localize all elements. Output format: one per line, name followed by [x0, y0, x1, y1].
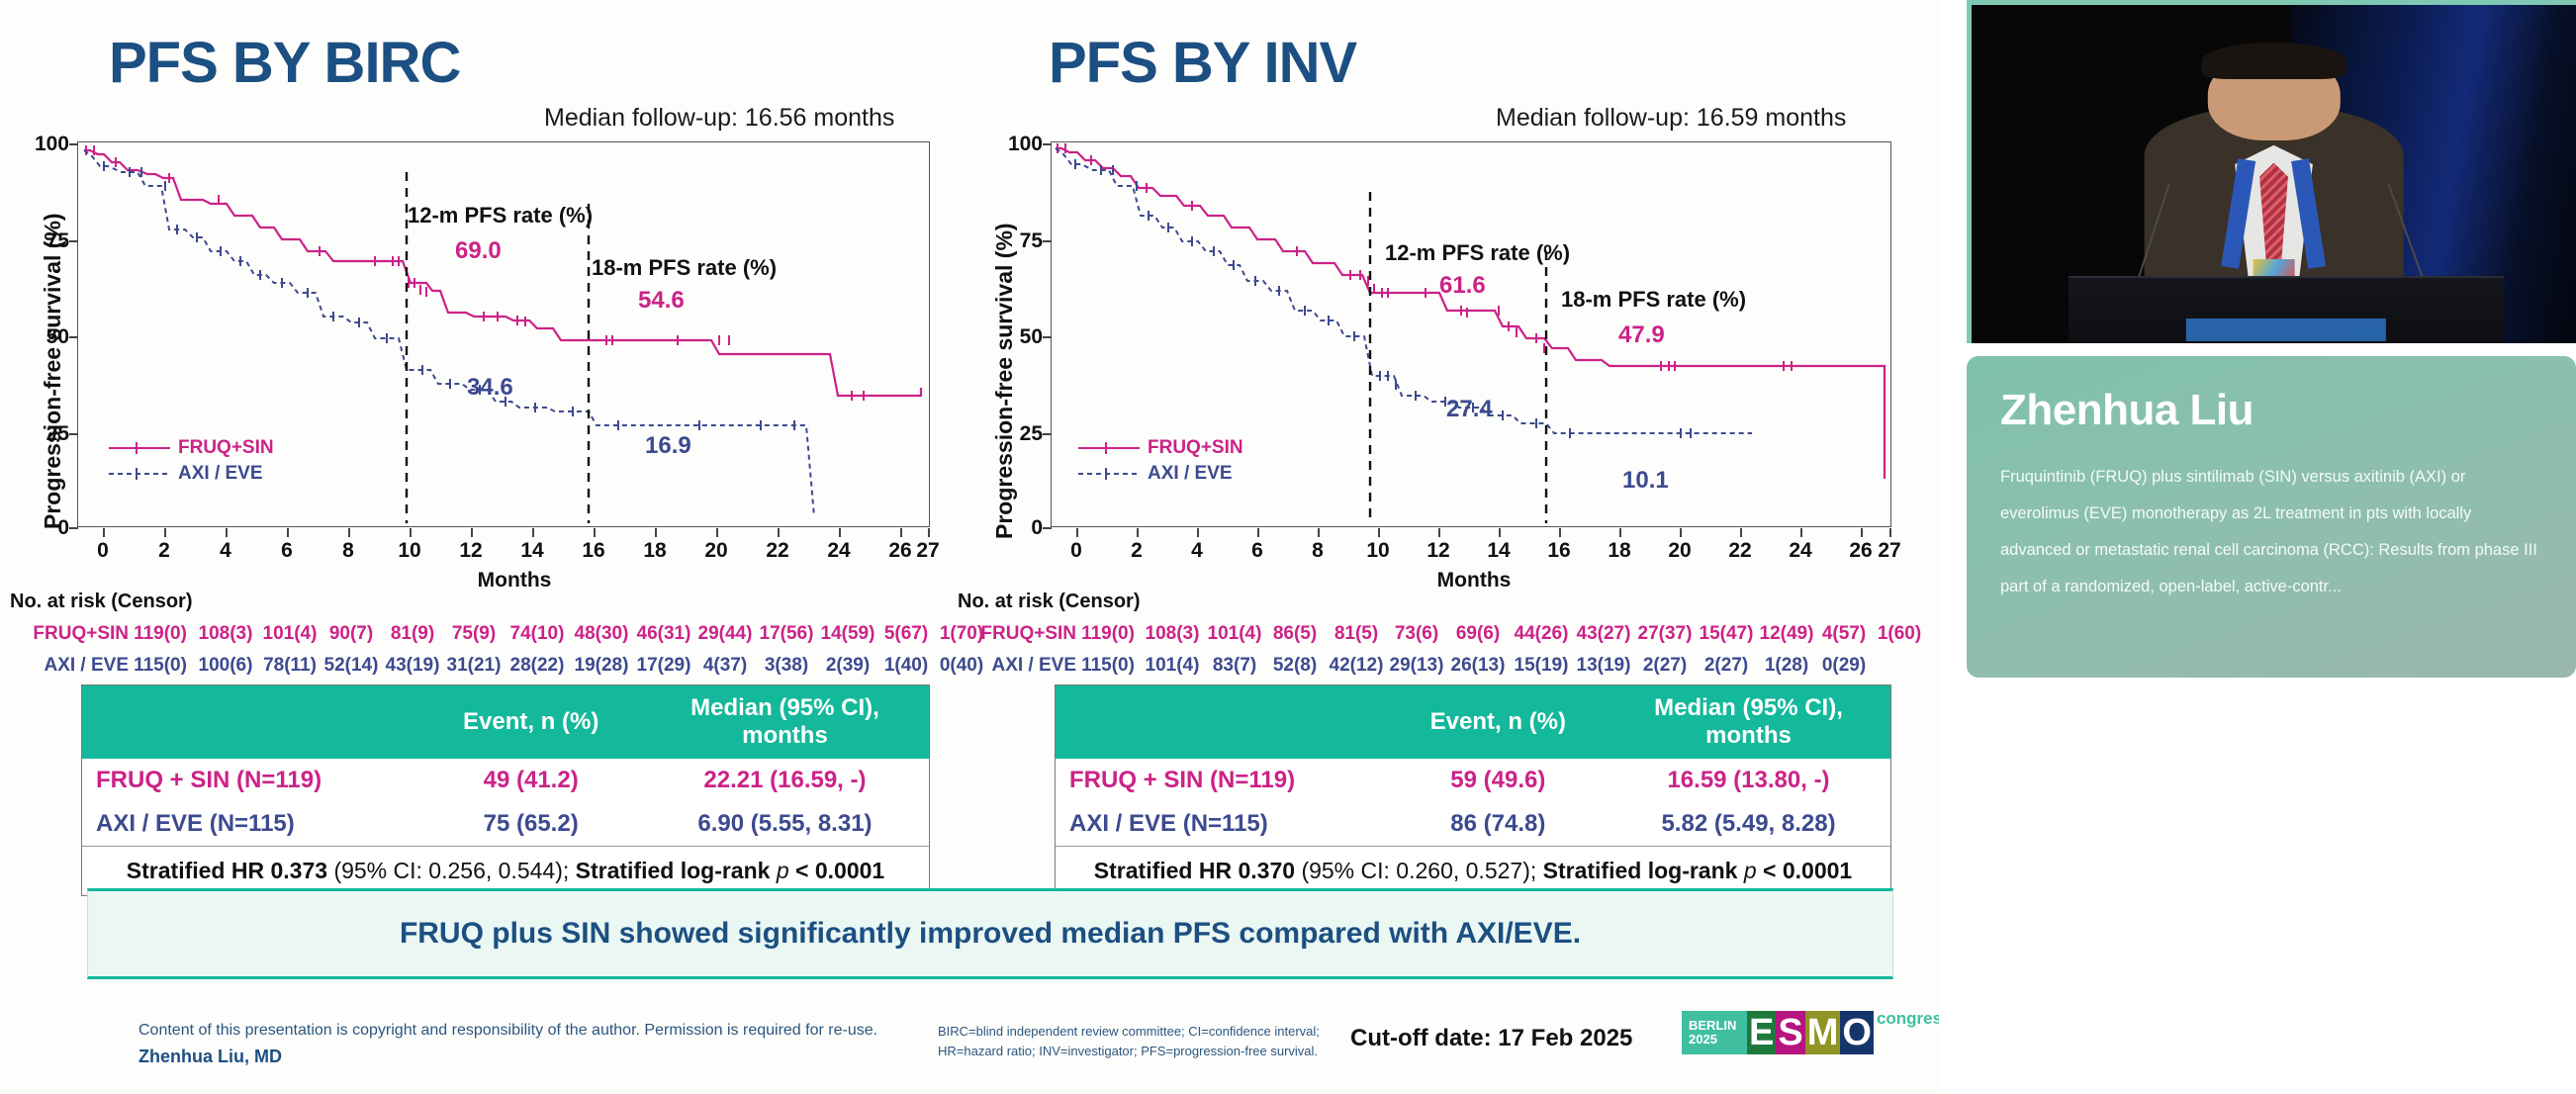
y-tick-birc-3: 25 [22, 422, 69, 446]
x-tick-inv-2: 4 [1177, 539, 1217, 563]
anno-18m-pink-inv: 47.9 [1618, 321, 1665, 349]
x-tickmark-birc-0 [103, 528, 105, 537]
x-tick-birc-10: 20 [696, 539, 736, 563]
legend-item-fruqsin-birc: FRUQ+SIN [109, 435, 274, 461]
y-tickmark-inv-3 [1043, 433, 1052, 435]
hr-part: p [777, 858, 795, 883]
anno-12m-head-inv: 12-m PFS rate (%) [1385, 240, 1570, 266]
x-tick-inv-8: 16 [1539, 539, 1579, 563]
footer-abbreviations: BIRC=blind independent review committee;… [938, 1022, 1320, 1060]
risk-cell: 12(49) [1757, 623, 1816, 645]
risk-cell: 13(19) [1573, 655, 1634, 677]
esmo-berlin-line2: 2025 [1689, 1033, 1740, 1047]
risk-cell: 83(7) [1205, 655, 1264, 677]
x-tick-birc-3: 6 [267, 539, 307, 563]
table-header-cell: Median (95% CI), months [641, 685, 929, 759]
risk-cell: 78(11) [259, 655, 321, 677]
risk-cell: 108(3) [1140, 623, 1205, 645]
x-tick-inv-1: 2 [1117, 539, 1156, 563]
table-cell: FRUQ + SIN (N=119) [1056, 759, 1390, 802]
median-followup-birc: Median follow-up: 16.56 months [544, 104, 894, 133]
hr-part: Stratified HR 0.370 [1094, 858, 1302, 883]
anno-12m-blue-inv: 27.4 [1446, 396, 1493, 423]
x-tickmark-inv-12 [1800, 528, 1802, 537]
footer-copyright-text: Content of this presentation is copyrigh… [138, 1019, 930, 1044]
table-header-cell: Event, n (%) [1390, 685, 1607, 759]
x-tick-inv-5: 10 [1358, 539, 1398, 563]
x-tickmark-birc-11 [778, 528, 780, 537]
legend-label-fruqsin-inv: FRUQ+SIN [1148, 437, 1243, 459]
x-tick-inv-6: 12 [1419, 539, 1458, 563]
x-tickmark-inv-2 [1197, 528, 1199, 537]
speaker-hair [2201, 43, 2346, 80]
hr-part: < 0.0001 [1763, 858, 1852, 883]
risk-cell: 5(67) [878, 623, 934, 645]
x-tickmark-inv-10 [1680, 528, 1682, 537]
risk-cell: 86(5) [1264, 623, 1326, 645]
lectern [2069, 276, 2504, 343]
x-tickmark-inv-4 [1318, 528, 1320, 537]
hr-part: (95% CI: 0.260, 0.527); [1301, 858, 1542, 883]
x-tick-birc-8: 16 [574, 539, 613, 563]
x-tickmark-birc-7 [532, 528, 534, 537]
y-tickmark-inv-2 [1043, 336, 1052, 338]
y-tick-inv-0: 100 [995, 133, 1043, 156]
x-tickmark-birc-3 [287, 528, 289, 537]
y-tickmark-inv-0 [1043, 143, 1052, 145]
x-tickmark-inv-3 [1257, 528, 1259, 537]
risk-cell: 73(6) [1387, 623, 1446, 645]
table-row: AXI / EVE (N=115) 75 (65.2) 6.90 (5.55, … [82, 802, 929, 847]
risk-cell: 1(40) [878, 655, 934, 677]
risk-row-fruqsin-inv: FRUQ+SIN119(0)108(3)101(4)86(5)81(5)73(6… [958, 623, 1927, 645]
y-tickmark-birc-2 [69, 336, 78, 338]
esmo-letter-o: O [1840, 1011, 1874, 1054]
x-tickmark-birc-6 [471, 528, 473, 537]
risk-cell: 52(8) [1264, 655, 1326, 677]
x-tickmark-inv-7 [1499, 528, 1501, 537]
x-tick-birc-0: 0 [83, 539, 123, 563]
esmo-berlin-badge: BERLIN 2025 [1682, 1011, 1747, 1054]
chart-title-birc: PFS BY BIRC [109, 30, 460, 96]
risk-row-name: AXI / EVE [10, 655, 129, 677]
risk-cell: 90(7) [321, 623, 382, 645]
table-cell: AXI / EVE (N=115) [1056, 802, 1390, 847]
session-description: Fruquintinib (FRUQ) plus sintilimab (SIN… [2000, 459, 2542, 606]
risk-cell: 29(13) [1387, 655, 1446, 677]
table-row: FRUQ + SIN (N=119) 49 (41.2) 22.21 (16.5… [82, 759, 929, 802]
summary-table-birc: Event, n (%) Median (95% CI), months FRU… [81, 684, 930, 896]
risk-cell: 0(29) [1816, 655, 1872, 677]
legend-item-axieve-inv: AXI / EVE [1078, 461, 1243, 487]
risk-cell: 28(22) [505, 655, 570, 677]
anno-12m-head-birc: 12-m PFS rate (%) [408, 203, 593, 228]
anno-18m-head-inv: 18-m PFS rate (%) [1561, 287, 1746, 313]
y-tick-birc-2: 50 [22, 325, 69, 349]
legend-line-blue-icon [109, 468, 170, 480]
x-tickmark-birc-4 [348, 528, 350, 537]
legend-inv: FRUQ+SIN AXI / EVE [1078, 435, 1243, 487]
risk-cell: 100(6) [192, 655, 259, 677]
anno-12m-pink-inv: 61.6 [1439, 272, 1486, 300]
y-tick-inv-4: 0 [995, 516, 1043, 540]
x-tickmark-birc-1 [164, 528, 166, 537]
y-tick-birc-0: 100 [22, 133, 69, 156]
x-tick-inv-7: 14 [1479, 539, 1518, 563]
screenshot-root: PFS BY BIRC Median follow-up: 16.56 mont… [0, 0, 2576, 1094]
x-axis-label-inv: Months [1415, 569, 1533, 593]
risk-row-name: FRUQ+SIN [958, 623, 1076, 645]
y-axis-label-birc: Progression-free survival (%) [40, 213, 66, 529]
risk-cell: 101(4) [1140, 655, 1205, 677]
risk-cell: 1(60) [1872, 623, 1927, 645]
table-cell: 6.90 (5.55, 8.31) [641, 802, 929, 847]
risk-cell: 4(57) [1816, 623, 1872, 645]
hr-part: (95% CI: 0.256, 0.544); [333, 858, 575, 883]
risk-cell: 101(4) [1205, 623, 1264, 645]
esmo-letter-e: E [1747, 1011, 1776, 1054]
anno-18m-head-birc: 18-m PFS rate (%) [592, 255, 777, 281]
risk-cell: 15(19) [1510, 655, 1573, 677]
y-tick-birc-4: 0 [22, 516, 69, 540]
risk-cell: 3(38) [756, 655, 817, 677]
esmo-letters: E S M O [1747, 1011, 1874, 1054]
risk-cell: 44(26) [1510, 623, 1573, 645]
x-tick-inv-10: 20 [1660, 539, 1700, 563]
x-tickmark-inv-1 [1137, 528, 1139, 537]
x-tick-inv-4: 8 [1298, 539, 1337, 563]
legend-item-fruqsin-inv: FRUQ+SIN [1078, 435, 1243, 461]
x-tick-birc-7: 14 [512, 539, 552, 563]
x-tickmark-birc-2 [226, 528, 228, 537]
x-tickmark-inv-9 [1619, 528, 1621, 537]
sidebar: Zhenhua Liu Fruquintinib (FRUQ) plus sin… [1939, 0, 2576, 1094]
x-tick-birc-2: 4 [206, 539, 245, 563]
session-info-card: Zhenhua Liu Fruquintinib (FRUQ) plus sin… [1967, 356, 2576, 678]
legend-label-axieve-birc: AXI / EVE [178, 463, 263, 485]
risk-row-name: AXI / EVE [958, 655, 1076, 677]
x-tick-birc-9: 18 [635, 539, 675, 563]
footer-copyright-block: Content of this presentation is copyrigh… [138, 1019, 930, 1071]
x-tickmark-birc-14 [928, 528, 930, 537]
x-tick-inv-9: 18 [1600, 539, 1639, 563]
table-row: FRUQ + SIN (N=119) 59 (49.6) 16.59 (13.8… [1056, 759, 1890, 802]
y-tickmark-birc-1 [69, 240, 78, 242]
y-tick-inv-2: 50 [995, 325, 1043, 349]
x-tick-birc-4: 8 [328, 539, 368, 563]
x-tickmark-inv-5 [1378, 528, 1380, 537]
table-row: AXI / EVE (N=115) 86 (74.8) 5.82 (5.49, … [1056, 802, 1890, 847]
table-cell: 75 (65.2) [420, 802, 641, 847]
video-stage [1972, 5, 2576, 343]
y-tickmark-inv-4 [1043, 527, 1052, 529]
risk-cell: 43(19) [382, 655, 443, 677]
risk-cell: 119(0) [129, 623, 192, 645]
table-header-cell [82, 685, 420, 759]
x-tickmark-inv-11 [1740, 528, 1742, 537]
risk-cell: 81(9) [382, 623, 443, 645]
x-tickmark-inv-14 [1889, 528, 1891, 537]
table-cell: 59 (49.6) [1390, 759, 1607, 802]
risk-cell: 19(28) [570, 655, 633, 677]
risk-cell: 15(47) [1696, 623, 1757, 645]
legend-label-axieve-inv: AXI / EVE [1148, 463, 1233, 485]
chart-title-inv: PFS BY INV [1049, 30, 1356, 96]
x-tick-inv-11: 22 [1720, 539, 1760, 563]
y-axis-label-inv: Progression-free survival (%) [991, 223, 1018, 539]
risk-cell: 74(10) [505, 623, 570, 645]
table-header-cell: Event, n (%) [420, 685, 641, 759]
risk-cell: 108(3) [192, 623, 259, 645]
x-tick-inv-12: 24 [1781, 539, 1820, 563]
table-cell: 86 (74.8) [1390, 802, 1607, 847]
y-tick-birc-1: 75 [22, 229, 69, 253]
legend-item-axieve-birc: AXI / EVE [109, 461, 274, 487]
risk-cell: 119(0) [1076, 623, 1140, 645]
legend-label-fruqsin-birc: FRUQ+SIN [178, 437, 274, 459]
speaker-video-player[interactable] [1967, 0, 2576, 343]
x-tick-birc-1: 2 [144, 539, 184, 563]
risk-table-title-inv: No. at risk (Censor) [958, 591, 1140, 613]
cutoff-date: Cut-off date: 17 Feb 2025 [1350, 1025, 1632, 1052]
risk-cell: 31(21) [443, 655, 505, 677]
table-cell: FRUQ + SIN (N=119) [82, 759, 420, 802]
x-tick-inv-14: 27 [1870, 539, 1909, 563]
table-cell: 49 (41.2) [420, 759, 641, 802]
risk-cell: 2(39) [817, 655, 878, 677]
risk-cell: 52(14) [321, 655, 382, 677]
hr-part: < 0.0001 [795, 858, 884, 883]
esmo-letter-m: M [1805, 1011, 1841, 1054]
risk-cell: 14(59) [817, 623, 878, 645]
x-tickmark-birc-13 [900, 528, 902, 537]
x-tickmark-birc-5 [410, 528, 412, 537]
risk-row-axieve-birc: AXI / EVE115(0)100(6)78(11)52(14)43(19)3… [10, 655, 989, 677]
legend-line-pink-icon [1078, 442, 1140, 454]
esmo-congress-logo: BERLIN 2025 E S M O congress [1682, 1011, 1952, 1054]
hr-part: p [1744, 858, 1763, 883]
x-tickmark-inv-6 [1438, 528, 1440, 537]
footer-author-name: Zhenhua Liu, MD [138, 1044, 930, 1071]
table-cell: 5.82 (5.49, 8.28) [1607, 802, 1890, 847]
x-tick-birc-5: 10 [390, 539, 429, 563]
x-tick-inv-3: 6 [1238, 539, 1277, 563]
y-tickmark-birc-4 [69, 527, 78, 529]
legend-birc: FRUQ+SIN AXI / EVE [109, 435, 274, 487]
table-cell: 16.59 (13.80, -) [1607, 759, 1890, 802]
risk-cell: 17(29) [633, 655, 694, 677]
risk-cell: 101(4) [259, 623, 321, 645]
x-tickmark-inv-13 [1861, 528, 1863, 537]
conclusion-banner: FRUQ plus SIN showed significantly impro… [87, 888, 1893, 979]
risk-cell: 4(37) [694, 655, 756, 677]
anno-12m-pink-birc: 69.0 [455, 237, 502, 265]
risk-cell: 43(27) [1573, 623, 1634, 645]
risk-cell: 42(12) [1326, 655, 1387, 677]
risk-row-axieve-inv: AXI / EVE115(0)101(4)83(7)52(8)42(12)29(… [958, 655, 1872, 677]
x-tickmark-birc-10 [716, 528, 718, 537]
x-tick-birc-11: 22 [758, 539, 797, 563]
anno-18m-blue-birc: 16.9 [645, 432, 691, 460]
anno-18m-pink-birc: 54.6 [638, 287, 685, 315]
risk-cell: 29(44) [694, 623, 756, 645]
legend-line-pink-icon [109, 442, 170, 454]
risk-cell: 115(0) [129, 655, 192, 677]
legend-line-blue-icon [1078, 468, 1140, 480]
hr-part: Stratified log-rank [1543, 858, 1744, 883]
y-tickmark-birc-0 [69, 143, 78, 145]
risk-table-title-birc: No. at risk (Censor) [10, 591, 192, 613]
risk-cell: 27(37) [1634, 623, 1696, 645]
y-tickmark-inv-1 [1043, 240, 1052, 242]
table-cell: AXI / EVE (N=115) [82, 802, 420, 847]
risk-cell: 26(13) [1446, 655, 1510, 677]
hr-part: Stratified log-rank [576, 858, 777, 883]
risk-row-name: FRUQ+SIN [10, 623, 129, 645]
risk-cell: 48(30) [570, 623, 633, 645]
x-tickmark-birc-12 [839, 528, 841, 537]
risk-cell: 81(5) [1326, 623, 1387, 645]
table-header-cell: Median (95% CI), months [1607, 685, 1890, 759]
x-tickmark-birc-8 [594, 528, 596, 537]
x-tickmark-birc-9 [655, 528, 657, 537]
risk-cell: 1(28) [1757, 655, 1816, 677]
x-tick-inv-0: 0 [1057, 539, 1096, 563]
risk-cell: 17(56) [756, 623, 817, 645]
table-cell: 22.21 (16.59, -) [641, 759, 929, 802]
anno-12m-blue-birc: 34.6 [467, 374, 513, 402]
anno-18m-blue-inv: 10.1 [1622, 467, 1669, 495]
x-axis-label-birc: Months [455, 569, 574, 593]
table-header-cell [1056, 685, 1390, 759]
risk-cell: 2(27) [1696, 655, 1757, 677]
x-tickmark-inv-0 [1076, 528, 1078, 537]
lectern-screen [2186, 319, 2386, 341]
abbr-line-2: HR=hazard ratio; INV=investigator; PFS=p… [938, 1042, 1320, 1061]
hr-part: Stratified HR 0.373 [127, 858, 334, 883]
x-tick-birc-14: 27 [908, 539, 948, 563]
table-header-row: Event, n (%) Median (95% CI), months [82, 685, 929, 759]
esmo-berlin-line1: BERLIN [1689, 1019, 1740, 1033]
x-tick-birc-6: 12 [451, 539, 491, 563]
y-tick-inv-1: 75 [995, 229, 1043, 253]
risk-cell: 75(9) [443, 623, 505, 645]
risk-cell: 46(31) [633, 623, 694, 645]
table-header-row: Event, n (%) Median (95% CI), months [1056, 685, 1890, 759]
abbr-line-1: BIRC=blind independent review committee;… [938, 1022, 1320, 1042]
risk-cell: 115(0) [1076, 655, 1140, 677]
risk-cell: 2(27) [1634, 655, 1696, 677]
x-tick-birc-12: 24 [819, 539, 859, 563]
summary-table-inv: Event, n (%) Median (95% CI), months FRU… [1055, 684, 1891, 896]
y-tick-inv-3: 25 [995, 422, 1043, 446]
risk-row-fruqsin-birc: FRUQ+SIN119(0)108(3)101(4)90(7)81(9)75(9… [10, 623, 989, 645]
risk-cell: 69(6) [1446, 623, 1510, 645]
speaker-name: Zhenhua Liu [2000, 386, 2542, 435]
y-tickmark-birc-3 [69, 433, 78, 435]
esmo-letter-s: S [1776, 1011, 1804, 1054]
median-followup-inv: Median follow-up: 16.59 months [1496, 104, 1846, 133]
presentation-slide: PFS BY BIRC Median follow-up: 16.56 mont… [0, 0, 1939, 1094]
x-tickmark-inv-8 [1559, 528, 1561, 537]
